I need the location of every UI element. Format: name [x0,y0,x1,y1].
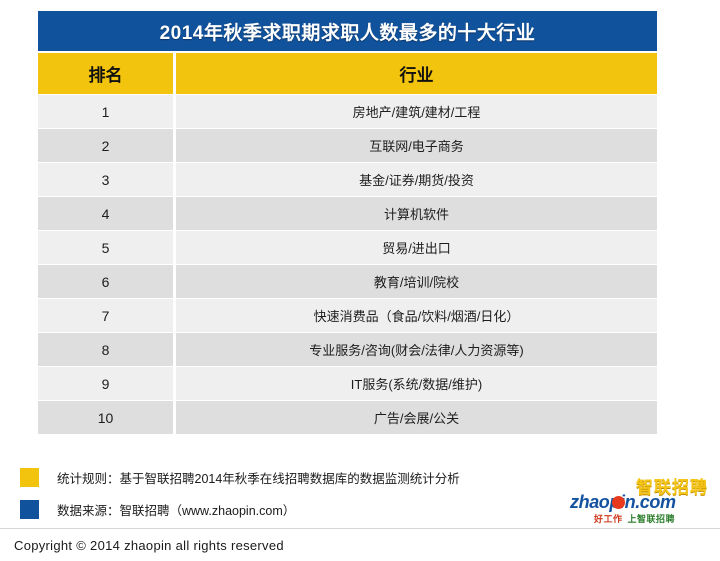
table-row: 6 教育/培训/院校 [38,265,657,298]
logo-tagline: 好工作上智联招聘 [594,512,675,525]
cell-industry: 快速消费品（食品/饮料/烟酒/日化） [176,299,657,332]
footnote-text: 数据来源：智联招聘（www.zhaopin.com） [57,500,295,519]
column-header-rank: 排名 [38,53,173,94]
table-header-row: 排名 行业 [38,53,657,94]
logo-tagline-part1: 好工作 [594,514,623,524]
copyright-text: Copyright © 2014 zhaopin all rights rese… [0,538,284,553]
footnote-text: 统计规则：基于智联招聘2014年秋季在线招聘数据库的数据监测统计分析 [57,468,460,487]
cell-industry: 房地产/建筑/建材/工程 [176,95,657,128]
cell-industry: 贸易/进出口 [176,231,657,264]
zhaopin-logo[interactable]: 智联招聘 zhaopin.com 好工作上智联招聘 [568,479,710,525]
cell-rank: 7 [38,299,173,332]
cell-industry: 基金/证券/期货/投资 [176,163,657,196]
cell-rank: 4 [38,197,173,230]
cell-rank: 8 [38,333,173,366]
copyright-bar: Copyright © 2014 zhaopin all rights rese… [0,528,720,561]
blue-square-icon [20,500,39,519]
table-row: 10 广告/会展/公关 [38,401,657,434]
table-row: 7 快速消费品（食品/饮料/烟酒/日化） [38,299,657,332]
table-row: 9 IT服务(系统/数据/维护) [38,367,657,400]
table-row: 8 专业服务/咨询(财会/法律/人力资源等) [38,333,657,366]
logo-dot-icon [612,496,625,509]
gold-square-icon [20,468,39,487]
ranking-table: 2014年秋季求职期求职人数最多的十大行业 排名 行业 1 房地产/建筑/建材/… [38,11,657,434]
cell-rank: 6 [38,265,173,298]
cell-industry: 广告/会展/公关 [176,401,657,434]
logo-tagline-part2: 上智联招聘 [628,514,676,524]
cell-industry: IT服务(系统/数据/维护) [176,367,657,400]
page-title: 2014年秋季求职期求职人数最多的十大行业 [38,11,657,51]
cell-industry: 计算机软件 [176,197,657,230]
table-row: 2 互联网/电子商务 [38,129,657,162]
cell-industry: 互联网/电子商务 [176,129,657,162]
cell-rank: 2 [38,129,173,162]
table-row: 5 贸易/进出口 [38,231,657,264]
table-row: 3 基金/证券/期货/投资 [38,163,657,196]
table-row: 4 计算机软件 [38,197,657,230]
cell-industry: 专业服务/咨询(财会/法律/人力资源等) [176,333,657,366]
cell-industry: 教育/培训/院校 [176,265,657,298]
cell-rank: 3 [38,163,173,196]
column-header-industry: 行业 [176,53,657,94]
cell-rank: 10 [38,401,173,434]
cell-rank: 1 [38,95,173,128]
cell-rank: 5 [38,231,173,264]
cell-rank: 9 [38,367,173,400]
table-row: 1 房地产/建筑/建材/工程 [38,95,657,128]
